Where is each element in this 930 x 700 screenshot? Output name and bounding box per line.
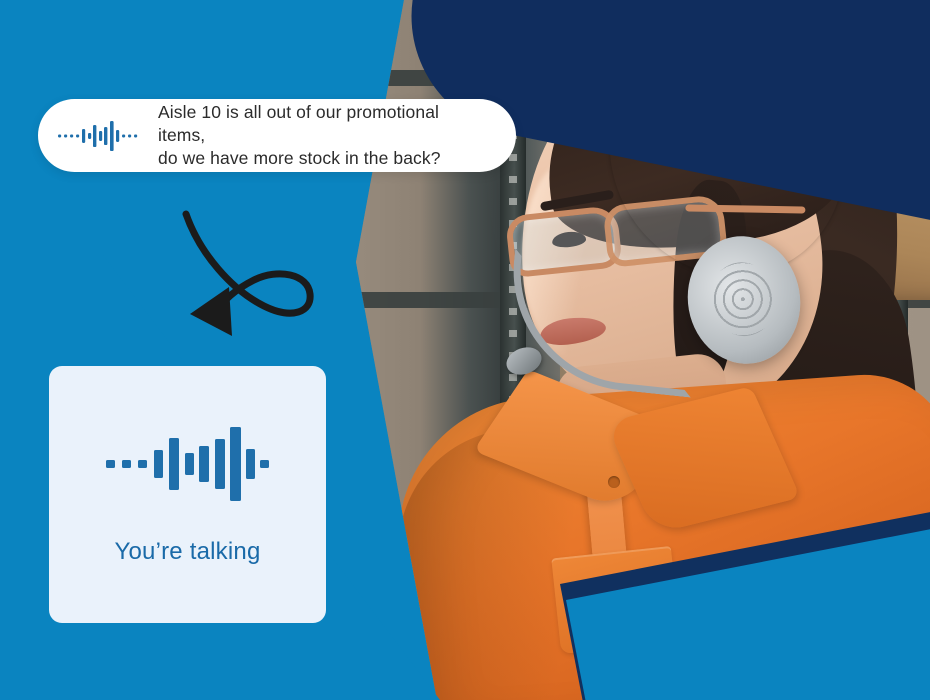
voice-waveform-icon [58,119,142,153]
curved-loop-arrow-icon [172,202,322,342]
shirt-button [608,476,620,488]
speech-line-2: do we have more stock in the back? [158,147,490,170]
youre-talking-card: You’re talking [49,366,326,623]
poster-canvas: Aisle 10 is all out of our promotional i… [0,0,930,700]
speech-bubble-text: Aisle 10 is all out of our promotional i… [158,101,490,169]
speech-bubble: Aisle 10 is all out of our promotional i… [38,99,516,172]
speech-line-1: Aisle 10 is all out of our promotional i… [158,102,439,145]
card-label: You’re talking [114,538,260,566]
voice-waveform-icon [104,424,272,504]
